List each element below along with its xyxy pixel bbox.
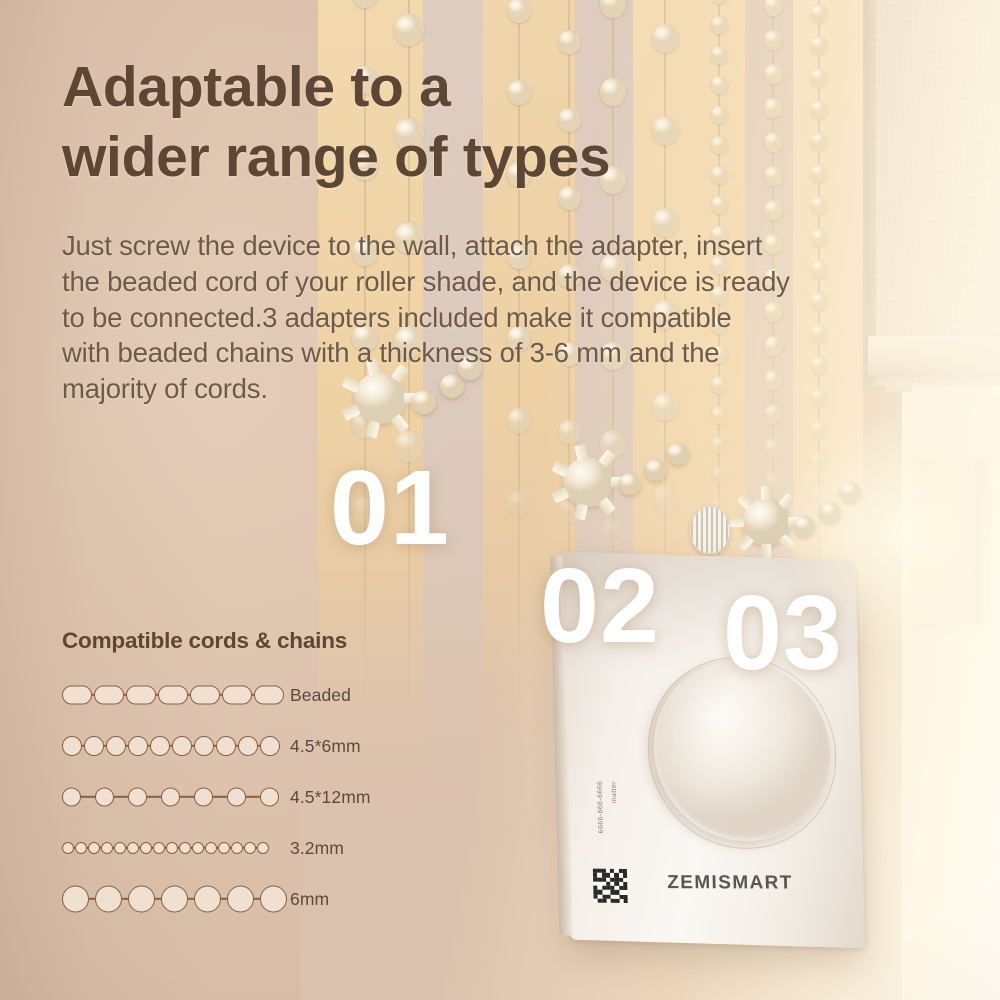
vignette	[0, 0, 1000, 1000]
product-marketing-image: matter 6666-666-6666 ZEMISMART Adaptable…	[0, 0, 1000, 1000]
